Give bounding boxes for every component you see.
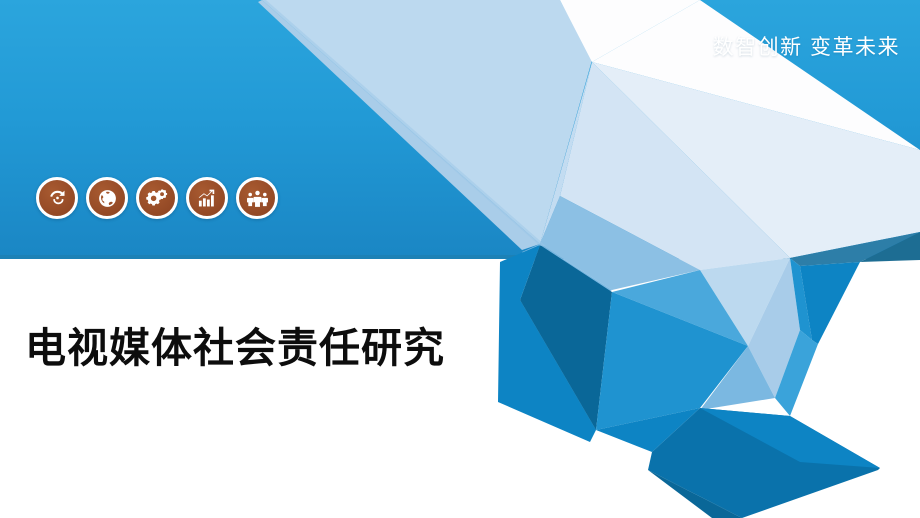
gears-icon	[146, 187, 168, 209]
icon-badge-people-group[interactable]	[236, 177, 278, 219]
icon-badge-gears[interactable]	[136, 177, 178, 219]
icon-badge-recycle-arrow[interactable]	[36, 177, 78, 219]
recycle-arrow-icon	[47, 188, 68, 209]
presentation-cover-slide: 数智创新 变革未来	[0, 0, 920, 518]
low-poly-crystal-graphic	[0, 0, 920, 518]
icon-badge-globe[interactable]	[86, 177, 128, 219]
page-title: 电视媒体社会责任研究	[25, 325, 445, 372]
feature-icon-row	[36, 177, 278, 219]
bar-chart-growth-icon	[197, 188, 218, 209]
people-group-icon	[246, 188, 269, 209]
globe-icon	[97, 188, 118, 209]
icon-badge-bar-chart-growth[interactable]	[186, 177, 228, 219]
slide-tagline: 数智创新 变革未来	[713, 31, 900, 61]
